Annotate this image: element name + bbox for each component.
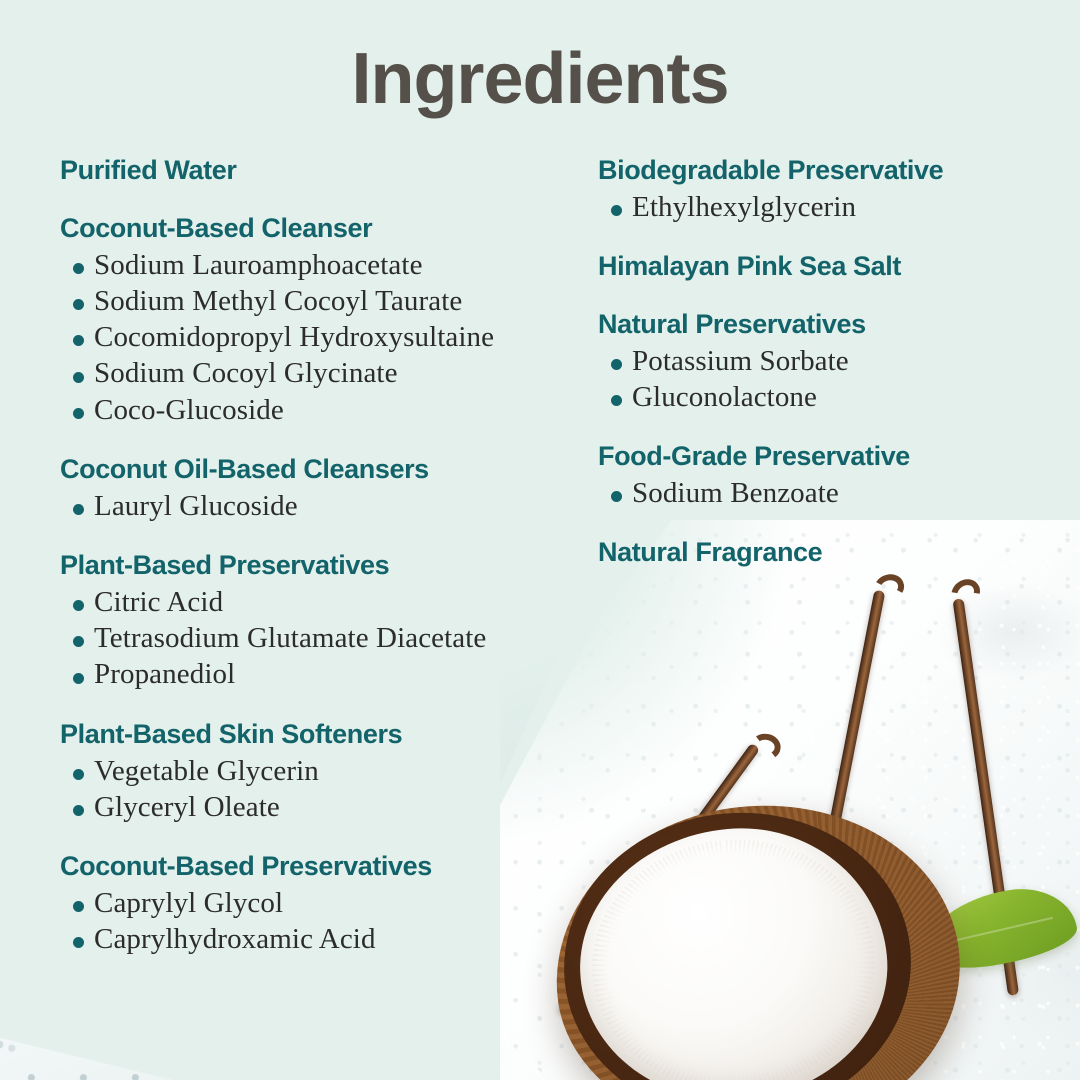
- ingredient-item-label: Ethylhexylglycerin: [632, 191, 856, 223]
- ingredient-group: Natural PreservativesPotassium SorbateGl…: [598, 309, 1058, 415]
- ingredient-group: Himalayan Pink Sea Salt: [598, 251, 1058, 283]
- ingredient-group: Coconut Oil-Based CleansersLauryl Glucos…: [60, 454, 580, 524]
- ingredient-item: Vegetable Glycerin: [60, 753, 580, 789]
- ingredient-item-label: Lauryl Glucoside: [94, 490, 298, 522]
- ingredient-group-heading: Coconut Oil-Based Cleansers: [60, 454, 580, 486]
- ingredient-item-label: Caprylyl Glycol: [94, 887, 283, 919]
- ingredient-item-label: Coco-Glucoside: [94, 394, 284, 426]
- ingredient-group-heading: Natural Fragrance: [598, 537, 1058, 569]
- ingredients-panel: Ingredients Purified WaterCoconut-Based …: [0, 0, 1080, 1080]
- ingredient-group-heading: Coconut-Based Cleanser: [60, 213, 580, 245]
- ingredient-item-label: Tetrasodium Glutamate Diacetate: [94, 622, 486, 654]
- ingredient-group-heading: Biodegradable Preservative: [598, 155, 1058, 187]
- bullet-icon: [73, 937, 84, 948]
- ingredient-item: Sodium Methyl Cocoyl Taurate: [60, 283, 580, 319]
- ingredient-list: Caprylyl GlycolCaprylhydroxamic Acid: [60, 885, 580, 958]
- ingredient-group: Biodegradable PreservativeEthylhexylglyc…: [598, 155, 1058, 225]
- ingredient-group-heading: Plant-Based Preservatives: [60, 550, 580, 582]
- ingredient-list: Ethylhexylglycerin: [598, 189, 1058, 225]
- ingredient-item: Caprylyl Glycol: [60, 885, 580, 921]
- ingredient-list: Sodium LauroamphoacetateSodium Methyl Co…: [60, 247, 580, 428]
- bullet-icon: [73, 769, 84, 780]
- ingredient-group-heading: Plant-Based Skin Softeners: [60, 719, 580, 751]
- ingredient-item: Sodium Lauroamphoacetate: [60, 247, 580, 283]
- ingredient-group: Plant-Based Skin SoftenersVegetable Glyc…: [60, 719, 580, 825]
- ingredient-item: Potassium Sorbate: [598, 343, 1058, 379]
- ingredient-item-label: Potassium Sorbate: [632, 345, 849, 377]
- ingredient-group-heading: Himalayan Pink Sea Salt: [598, 251, 1058, 283]
- ingredient-item-label: Sodium Methyl Cocoyl Taurate: [94, 285, 462, 317]
- ingredient-group: Plant-Based PreservativesCitric AcidTetr…: [60, 550, 580, 693]
- bullet-icon: [73, 504, 84, 515]
- ingredient-group-heading: Food-Grade Preservative: [598, 441, 1058, 473]
- ingredient-item: Cocomidopropyl Hydroxysultaine: [60, 319, 580, 355]
- bullet-icon: [73, 673, 84, 684]
- bullet-icon: [73, 805, 84, 816]
- ingredient-item-label: Gluconolactone: [632, 381, 817, 413]
- ingredient-item: Caprylhydroxamic Acid: [60, 921, 580, 957]
- ingredient-item: Propanediol: [60, 656, 580, 692]
- ingredient-item-label: Propanediol: [94, 658, 235, 690]
- bullet-icon: [73, 901, 84, 912]
- bullet-icon: [73, 408, 84, 419]
- ingredient-group: Coconut-Based CleanserSodium Lauroamphoa…: [60, 213, 580, 428]
- ingredient-item-label: Sodium Cocoyl Glycinate: [94, 357, 398, 389]
- ingredient-item: Tetrasodium Glutamate Diacetate: [60, 620, 580, 656]
- ingredient-item-label: Glyceryl Oleate: [94, 791, 280, 823]
- ingredient-item-label: Citric Acid: [94, 586, 223, 618]
- ingredient-list: Vegetable GlycerinGlyceryl Oleate: [60, 753, 580, 826]
- bullet-icon: [73, 372, 84, 383]
- bullet-icon: [611, 395, 622, 406]
- bullet-icon: [611, 205, 622, 216]
- bullet-icon: [611, 491, 622, 502]
- ingredient-item: Lauryl Glucoside: [60, 488, 580, 524]
- ingredient-list: Potassium SorbateGluconolactone: [598, 343, 1058, 416]
- ingredient-item-label: Caprylhydroxamic Acid: [94, 923, 376, 955]
- ingredient-item-label: Sodium Benzoate: [632, 477, 839, 509]
- ingredient-list: Sodium Benzoate: [598, 475, 1058, 511]
- ingredient-group-heading: Purified Water: [60, 155, 580, 187]
- ingredient-item: Glyceryl Oleate: [60, 789, 580, 825]
- ingredients-column-right: Biodegradable PreservativeEthylhexylglyc…: [598, 155, 1058, 569]
- page-title: Ingredients: [0, 38, 1080, 120]
- ingredient-item: Gluconolactone: [598, 379, 1058, 415]
- ingredient-group: Coconut-Based PreservativesCaprylyl Glyc…: [60, 851, 580, 957]
- ingredient-item: Sodium Cocoyl Glycinate: [60, 355, 580, 391]
- ingredient-group-heading: Natural Preservatives: [598, 309, 1058, 341]
- bullet-icon: [73, 600, 84, 611]
- ingredient-list: Citric AcidTetrasodium Glutamate Diaceta…: [60, 584, 580, 693]
- ingredient-item: Ethylhexylglycerin: [598, 189, 1058, 225]
- bullet-icon: [73, 299, 84, 310]
- ingredient-item-label: Sodium Lauroamphoacetate: [94, 249, 423, 281]
- ingredient-group: Food-Grade PreservativeSodium Benzoate: [598, 441, 1058, 511]
- ingredient-item: Citric Acid: [60, 584, 580, 620]
- ingredient-item-label: Cocomidopropyl Hydroxysultaine: [94, 321, 494, 353]
- ingredient-group: Natural Fragrance: [598, 537, 1058, 569]
- bullet-icon: [73, 263, 84, 274]
- ingredient-group: Purified Water: [60, 155, 580, 187]
- ingredients-column-left: Purified WaterCoconut-Based CleanserSodi…: [60, 155, 580, 957]
- bullet-icon: [611, 359, 622, 370]
- ingredient-group-heading: Coconut-Based Preservatives: [60, 851, 580, 883]
- bullet-icon: [73, 636, 84, 647]
- ingredient-item: Coco-Glucoside: [60, 392, 580, 428]
- bullet-icon: [73, 335, 84, 346]
- ingredient-list: Lauryl Glucoside: [60, 488, 580, 524]
- ingredient-item-label: Vegetable Glycerin: [94, 755, 319, 787]
- ingredient-item: Sodium Benzoate: [598, 475, 1058, 511]
